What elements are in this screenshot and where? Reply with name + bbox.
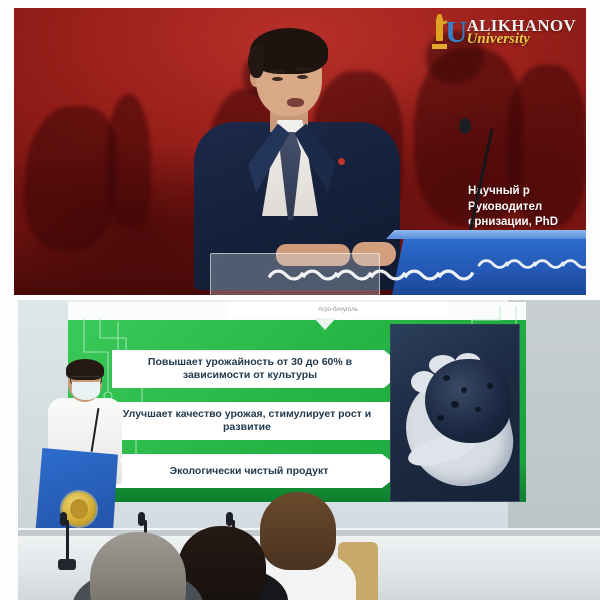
audience-member-head xyxy=(260,492,336,570)
bottom-photo: Агро-биоуголь Повышает урожайность от xyxy=(18,300,600,600)
top-photo: U ALIKHANOV University Научный р Руковод… xyxy=(14,8,586,295)
speaker-eyebrow xyxy=(296,68,311,71)
slide-banner-3: Экологически чистый продукт xyxy=(112,454,404,488)
emblem-inner xyxy=(70,499,88,519)
microphone-head-icon xyxy=(60,512,67,526)
slide-banner-1: Повышает урожайность от 30 до 60% в зави… xyxy=(112,350,406,388)
slide-banner-1-text: Повышает урожайность от 30 до 60% в зави… xyxy=(120,356,380,382)
backdrop-caption: Научный р Руководител ернизации, PhD xyxy=(468,184,586,231)
microphone-head-icon xyxy=(226,512,233,526)
slide-title-faded: Агро-биоуголь xyxy=(228,302,448,318)
university-logo: U ALIKHANOV University xyxy=(431,14,576,50)
speaker-eye xyxy=(297,75,308,79)
table-microphone xyxy=(66,520,69,562)
down-arrow-icon xyxy=(314,318,336,330)
screenshot-root: U ALIKHANOV University Научный р Руковод… xyxy=(0,0,600,600)
logo-line-2: University xyxy=(467,32,576,47)
speaker-eyebrow xyxy=(270,70,285,73)
microphone-head-icon xyxy=(459,118,471,134)
slide-banner-2: Улучшает качество урожая, стимулирует ро… xyxy=(100,402,412,440)
statue-monument-icon xyxy=(431,14,449,50)
speaker-lapel-pin xyxy=(338,158,345,165)
microphone-head-icon xyxy=(138,512,145,526)
biochar-granules xyxy=(425,359,511,443)
kazakh-ornament: 〜〜〜〜〜〜 xyxy=(476,242,532,295)
backdrop-caption-line-1: Научный р xyxy=(468,184,586,200)
slide-banner-2-text: Улучшает качество урожая, стимулирует ро… xyxy=(108,408,386,434)
speaker-mouth xyxy=(287,98,304,107)
slide-photo-biochar xyxy=(390,324,520,502)
microphone-base xyxy=(58,559,76,570)
slide-banner-3-text: Экологически чистый продукт xyxy=(170,465,329,478)
logo-wordmark: ALIKHANOV University xyxy=(467,17,576,47)
speaker-eye xyxy=(272,77,283,81)
horse-silhouette xyxy=(106,94,152,226)
backdrop-caption-line-2: Руководител xyxy=(468,200,586,216)
podium-top-surface xyxy=(386,230,586,239)
kazakh-ornament: 〜〜〜〜〜〜 xyxy=(266,254,354,295)
speaker-hair-side xyxy=(248,46,264,78)
backdrop-caption-line-3: ернизации, PhD xyxy=(468,215,586,231)
face-mask xyxy=(72,382,100,400)
